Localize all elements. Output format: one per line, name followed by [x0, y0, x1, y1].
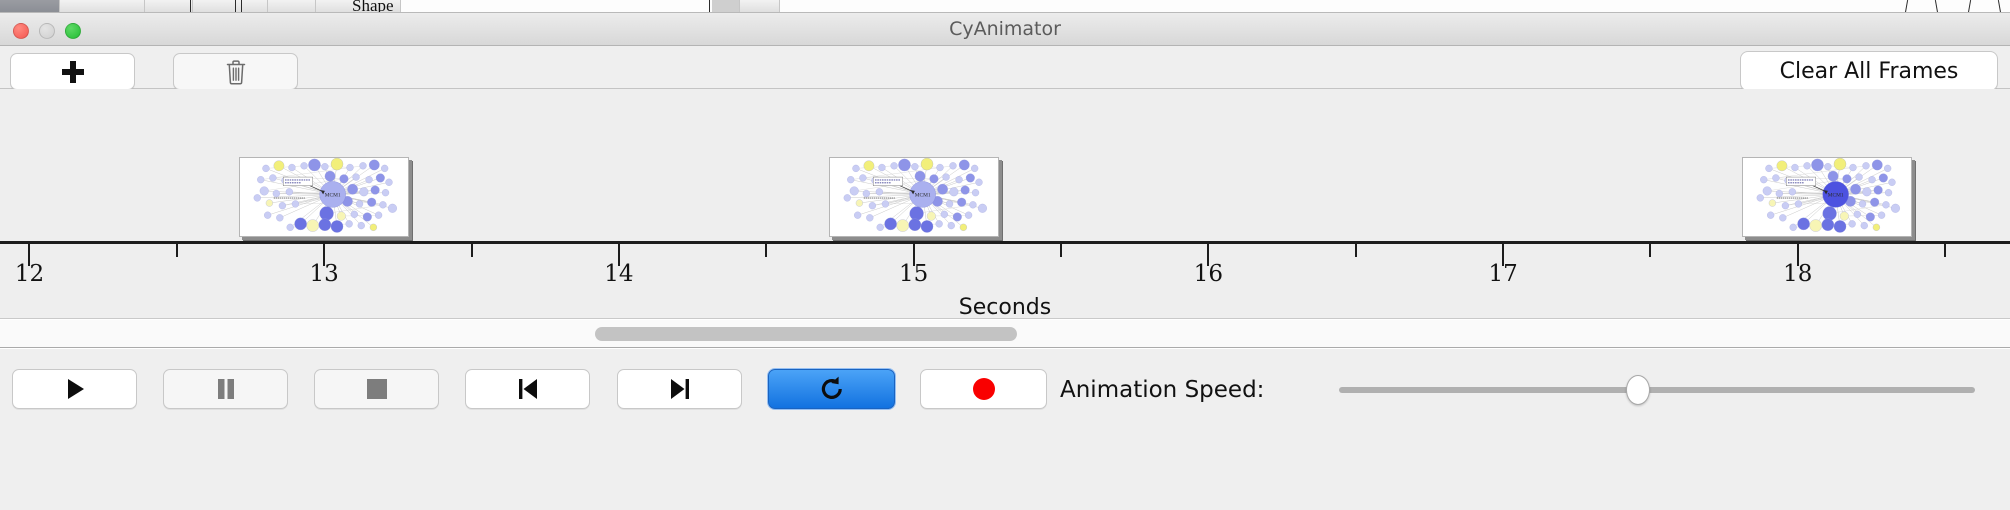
background-window-label: Shape — [352, 0, 394, 13]
play-button[interactable] — [12, 369, 137, 409]
cyanimator-window: Shape CyAnimator Clear All Frames MCM1M — [0, 0, 2010, 510]
frame-toolbar: Clear All Frames — [0, 46, 2010, 89]
network-thumbnail: MCM1 — [240, 158, 408, 236]
axis-tick-major — [28, 244, 30, 266]
axis-tick-minor — [1060, 244, 1062, 257]
skip-end-button[interactable] — [617, 369, 742, 409]
axis-line — [0, 241, 2010, 244]
axis-tick-minor — [1355, 244, 1357, 257]
record-button[interactable] — [920, 369, 1047, 409]
skip-end-icon — [667, 376, 693, 402]
axis-tick-major — [1797, 244, 1799, 266]
axis-tick-label: 15 — [899, 261, 928, 287]
axis-tick-label: 17 — [1488, 261, 1517, 287]
axis-title: Seconds — [0, 295, 2010, 319]
axis-tick-major — [323, 244, 325, 266]
loop-icon — [817, 374, 847, 404]
window-title: CyAnimator — [0, 13, 2010, 46]
skip-start-button[interactable] — [465, 369, 590, 409]
stop-button — [314, 369, 439, 409]
axis-tick-label: 14 — [604, 261, 633, 287]
pause-icon — [214, 377, 238, 401]
axis-tick-minor — [471, 244, 473, 257]
plus-icon — [62, 61, 84, 83]
svg-text:MCM1: MCM1 — [325, 193, 341, 199]
axis-tick-major — [913, 244, 915, 266]
axis-tick-major — [618, 244, 620, 266]
frame-thumbnail-1[interactable]: MCM1 — [239, 157, 409, 237]
record-icon — [972, 377, 996, 401]
clear-all-frames-button[interactable]: Clear All Frames — [1740, 51, 1998, 91]
axis-tick-label: 13 — [310, 261, 339, 287]
scrollbar-thumb[interactable] — [595, 327, 1017, 341]
axis-tick-major — [1502, 244, 1504, 266]
background-window-strip: Shape — [0, 0, 2010, 13]
axis-tick-label: 16 — [1194, 261, 1223, 287]
timeline-panel[interactable]: MCM1MCM1MCM1 12131415161718 Seconds — [0, 89, 2010, 319]
pause-button — [163, 369, 288, 409]
timeline-scrollbar[interactable] — [0, 320, 2010, 348]
skip-start-icon — [515, 376, 541, 402]
axis-tick-major — [1207, 244, 1209, 266]
delete-frame-button[interactable] — [173, 53, 298, 90]
playback-controls: Animation Speed: — [0, 349, 2010, 510]
axis-tick-label: 12 — [15, 261, 44, 287]
axis-tick-label: 18 — [1783, 261, 1812, 287]
axis-tick-minor — [765, 244, 767, 257]
add-frame-button[interactable] — [10, 53, 135, 90]
network-thumbnail: MCM1 — [1743, 158, 1911, 236]
trash-icon — [225, 59, 247, 85]
frame-thumbnail-3[interactable]: MCM1 — [1742, 157, 1912, 237]
frame-thumbnail-2[interactable]: MCM1 — [829, 157, 999, 237]
animation-speed-thumb[interactable] — [1626, 375, 1650, 405]
axis-tick-minor — [1944, 244, 1946, 257]
animation-speed-slider[interactable] — [1339, 387, 1975, 393]
animation-speed-label: Animation Speed: — [1060, 377, 1264, 403]
svg-text:MCM1: MCM1 — [1828, 193, 1844, 199]
network-thumbnail: MCM1 — [830, 158, 998, 236]
axis-tick-minor — [1649, 244, 1651, 257]
stop-icon — [366, 378, 388, 400]
svg-text:MCM1: MCM1 — [914, 193, 930, 199]
play-icon — [62, 376, 88, 402]
axis-tick-minor — [176, 244, 178, 257]
title-bar: CyAnimator — [0, 13, 2010, 46]
loop-button[interactable] — [768, 369, 895, 409]
